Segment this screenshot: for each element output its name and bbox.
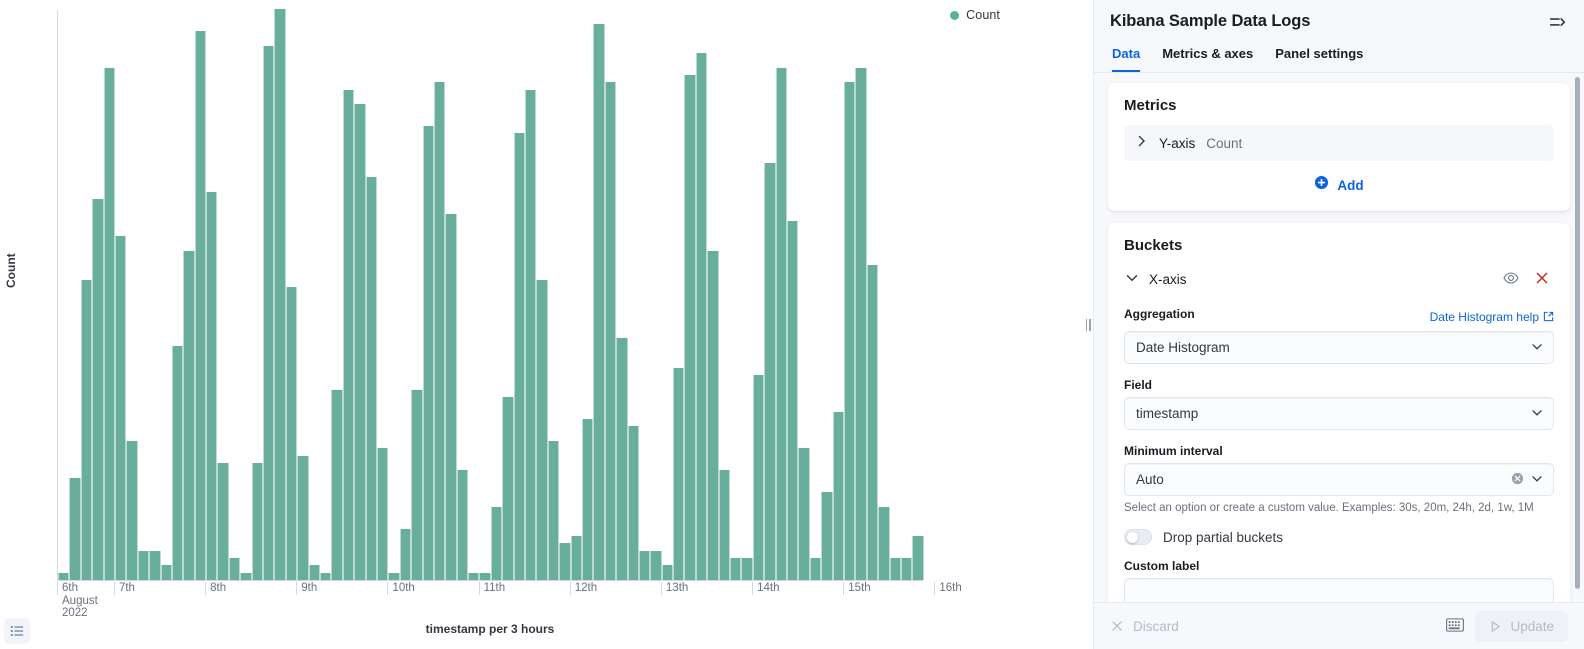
x-tick-line-3: 2022	[62, 607, 98, 619]
bar[interactable]	[457, 470, 468, 580]
x-axis-tick: 16th	[934, 582, 961, 595]
tab-panel-settings[interactable]: Panel settings	[1275, 46, 1363, 72]
legend-list-icon[interactable]	[4, 618, 30, 644]
bar[interactable]	[229, 558, 240, 580]
field-label: Field	[1124, 378, 1554, 392]
editor-side-panel: Kibana Sample Data Logs DataMetrics & ax…	[1093, 0, 1584, 649]
chevron-right-glyph	[1136, 135, 1148, 147]
x-tick-line-1: 6th	[62, 582, 78, 594]
close-glyph	[1534, 270, 1550, 286]
bar[interactable]	[468, 573, 479, 580]
bar[interactable]	[172, 346, 183, 580]
chevron-down-icon	[1531, 406, 1543, 421]
play-icon	[1489, 620, 1502, 633]
bar[interactable]	[616, 338, 627, 580]
bar[interactable]	[161, 565, 172, 580]
chevron-down-glyph	[1126, 272, 1138, 284]
plot-canvas	[57, 10, 923, 581]
bar[interactable]	[252, 463, 263, 580]
panel-scroll-container: Metrics Y-axis Count	[1094, 73, 1584, 602]
bar[interactable]	[309, 565, 320, 580]
drop-partial-buckets-toggle[interactable]	[1124, 529, 1152, 545]
x-tick-line-1: 12th	[575, 582, 597, 594]
bar[interactable]	[377, 448, 388, 580]
minimum-interval-help: Select an option or create a custom valu…	[1124, 501, 1554, 516]
date-histogram-help-link[interactable]: Date Histogram help	[1430, 310, 1554, 324]
bar[interactable]	[331, 390, 342, 580]
chart-area: Count Count 010203040506070 6thAugust202…	[0, 0, 1093, 649]
x-tick-line-1: 10th	[392, 582, 414, 594]
buckets-title: Buckets	[1124, 237, 1554, 254]
bucket-header-x-axis[interactable]: X-axis	[1124, 265, 1554, 294]
bar[interactable]	[400, 529, 411, 580]
plus-circle-glyph	[1314, 175, 1329, 190]
bar[interactable]	[479, 573, 490, 580]
bar[interactable]	[741, 558, 752, 580]
field-select[interactable]: timestamp	[1124, 397, 1554, 430]
minimum-interval-select[interactable]: Auto	[1124, 463, 1554, 496]
metric-axis-value: Count	[1206, 136, 1242, 151]
bar[interactable]	[206, 192, 217, 580]
kibana-visualize-editor: Count Count 010203040506070 6thAugust202…	[0, 0, 1584, 649]
bar[interactable]	[423, 126, 434, 580]
resize-grip-icon	[1086, 319, 1091, 331]
aggregation-label-row: Aggregation Date Histogram help	[1124, 307, 1554, 326]
custom-label-label: Custom label	[1124, 559, 1554, 573]
bar[interactable]	[411, 390, 422, 580]
drop-partial-buckets-row[interactable]: Drop partial buckets	[1124, 529, 1554, 545]
x-axis-tick: 6thAugust2022	[57, 582, 98, 595]
legend-list-glyph	[10, 624, 24, 638]
x-axis-tick: 7th	[114, 582, 135, 595]
bar[interactable]	[104, 68, 115, 580]
bar[interactable]	[149, 551, 160, 580]
aggregation-value: Date Histogram	[1136, 340, 1230, 355]
panel-tabs: DataMetrics & axesPanel settings	[1094, 36, 1584, 73]
plot-wrapper: 010203040506070 6thAugust20227th8th9th10…	[0, 0, 1000, 600]
bar[interactable]	[183, 251, 194, 580]
bar[interactable]	[514, 133, 525, 580]
bar[interactable]	[878, 507, 889, 580]
plus-circle-icon	[1314, 175, 1329, 195]
bar[interactable]	[810, 558, 821, 580]
panel-footer: Discard	[1094, 602, 1584, 649]
bar[interactable]	[901, 558, 912, 580]
collapse-panel-icon[interactable]	[1547, 12, 1568, 36]
x-tick-line-1: 8th	[210, 582, 226, 594]
bar[interactable]	[434, 82, 445, 580]
eye-glyph	[1503, 270, 1519, 286]
bucket-x-axis-label: X-axis	[1149, 272, 1490, 287]
drop-partial-buckets-label: Drop partial buckets	[1163, 530, 1283, 545]
page-title: Kibana Sample Data Logs	[1110, 12, 1310, 31]
bar[interactable]	[696, 53, 707, 580]
minimum-interval-label: Minimum interval	[1124, 444, 1554, 458]
bar[interactable]	[662, 565, 673, 580]
bar[interactable]	[263, 46, 274, 580]
x-axis-tick: 15th	[843, 582, 870, 595]
chevron-right-icon[interactable]	[1136, 134, 1148, 152]
aggregation-label: Aggregation	[1124, 307, 1195, 321]
x-axis-tick: 11th	[479, 582, 506, 595]
bar[interactable]	[217, 463, 228, 580]
discard-label: Discard	[1133, 619, 1179, 634]
footer-actions: Update	[1444, 611, 1568, 642]
minimum-interval-value: Auto	[1136, 472, 1164, 487]
x-tick-line-1: 14th	[757, 582, 779, 594]
bar[interactable]	[274, 9, 285, 580]
bar[interactable]	[764, 163, 775, 580]
bar[interactable]	[605, 82, 616, 580]
bar[interactable]	[650, 551, 661, 580]
bar[interactable]	[388, 573, 399, 580]
bar[interactable]	[548, 441, 559, 580]
bar[interactable]	[821, 492, 832, 580]
bar[interactable]	[366, 177, 377, 580]
panel-resize-handle[interactable]	[1083, 0, 1093, 649]
help-link-text: Date Histogram help	[1430, 310, 1539, 324]
bar[interactable]	[559, 543, 570, 580]
bar[interactable]	[126, 441, 137, 580]
eye-icon[interactable]	[1501, 268, 1521, 291]
x-axis-tick: 12th	[570, 582, 597, 595]
tab-metrics-axes[interactable]: Metrics & axes	[1162, 46, 1253, 72]
bar[interactable]	[833, 412, 844, 580]
bar[interactable]	[491, 507, 502, 580]
bar[interactable]	[343, 90, 354, 580]
bar[interactable]	[286, 287, 297, 580]
update-button[interactable]: Update	[1475, 611, 1568, 642]
x-tick-line-1: 11th	[484, 582, 506, 594]
chevron-down-glyph	[1531, 406, 1543, 418]
chevron-down-glyph	[1531, 340, 1543, 352]
bar[interactable]	[354, 104, 365, 580]
add-metric-button[interactable]: Add	[1124, 175, 1554, 195]
aggregation-select[interactable]: Date Histogram	[1124, 331, 1554, 364]
discard-button[interactable]: Discard	[1110, 619, 1179, 634]
bar[interactable]	[684, 75, 695, 580]
custom-label-input[interactable]	[1124, 578, 1554, 602]
bar[interactable]	[798, 448, 809, 580]
chevron-down-icon[interactable]	[1126, 271, 1138, 289]
close-icon[interactable]	[1532, 268, 1552, 291]
bar[interactable]	[320, 573, 331, 580]
bar[interactable]	[69, 478, 80, 580]
x-axis-tick: 9th	[296, 582, 317, 595]
bar[interactable]	[912, 536, 923, 580]
bar[interactable]	[890, 558, 901, 580]
bar[interactable]	[707, 251, 718, 580]
bar[interactable]	[58, 573, 69, 580]
bar-series-count[interactable]	[58, 9, 924, 580]
bar[interactable]	[81, 280, 92, 580]
field-value: timestamp	[1136, 406, 1198, 421]
x-tick-line-2: August	[62, 595, 98, 607]
x-tick-line-1: 9th	[301, 582, 317, 594]
x-axis-tick: 13th	[661, 582, 688, 595]
bar[interactable]	[571, 536, 582, 580]
bar[interactable]	[138, 551, 149, 580]
bar[interactable]	[582, 419, 593, 580]
bar[interactable]	[502, 397, 513, 580]
clear-glyph	[1511, 472, 1524, 485]
bar[interactable]	[673, 368, 684, 580]
chevron-down-icon	[1531, 340, 1543, 355]
x-axis-tick: 10th	[387, 582, 414, 595]
bar[interactable]	[753, 375, 764, 580]
bar[interactable]	[776, 68, 787, 580]
metric-axis-label: Y-axis	[1159, 136, 1195, 151]
bar[interactable]	[525, 90, 536, 580]
keyboard-shortcuts-icon[interactable]	[1444, 616, 1466, 637]
chevron-down-icon	[1531, 472, 1543, 487]
keyboard-glyph	[1446, 618, 1464, 632]
bar[interactable]	[639, 551, 650, 580]
add-metric-label: Add	[1337, 178, 1363, 193]
update-label: Update	[1510, 619, 1554, 634]
chevron-down-glyph	[1531, 472, 1543, 484]
clear-icon[interactable]	[1511, 472, 1524, 488]
x-axis-title: timestamp per 3 hours	[57, 622, 923, 636]
bar[interactable]	[195, 31, 206, 580]
bar[interactable]	[719, 470, 730, 580]
bar[interactable]	[787, 221, 798, 580]
metrics-title: Metrics	[1124, 97, 1554, 114]
x-tick-line-1: 15th	[848, 582, 870, 594]
x-tick-line-1: 13th	[666, 582, 688, 594]
metrics-card: Metrics Y-axis Count	[1108, 83, 1570, 211]
x-tick-line-1: 7th	[119, 582, 135, 594]
x-tick-line-1: 16th	[939, 582, 961, 594]
buckets-card: Buckets X-axis	[1108, 223, 1570, 602]
bar[interactable]	[844, 82, 855, 580]
toggle-knob	[1127, 532, 1138, 543]
bar[interactable]	[593, 24, 604, 580]
x-axis-tick: 8th	[205, 582, 226, 595]
x-axis-tick: 14th	[752, 582, 779, 595]
bar[interactable]	[115, 236, 126, 580]
bar[interactable]	[92, 199, 103, 580]
collapse-panel-glyph	[1549, 14, 1566, 31]
metric-row-y-axis[interactable]: Y-axis Count	[1124, 125, 1554, 161]
close-icon	[1110, 619, 1124, 633]
panel-scrollbar[interactable]	[1575, 77, 1580, 589]
bar[interactable]	[730, 558, 741, 580]
bar[interactable]	[297, 456, 308, 580]
external-link-icon	[1543, 311, 1554, 322]
bar[interactable]	[536, 280, 547, 580]
bar[interactable]	[628, 426, 639, 580]
bar[interactable]	[445, 214, 456, 580]
bar[interactable]	[867, 265, 878, 580]
bar[interactable]	[855, 68, 866, 580]
bar[interactable]	[240, 573, 251, 580]
panel-header: Kibana Sample Data Logs	[1094, 0, 1584, 36]
tab-data[interactable]: Data	[1112, 46, 1140, 72]
